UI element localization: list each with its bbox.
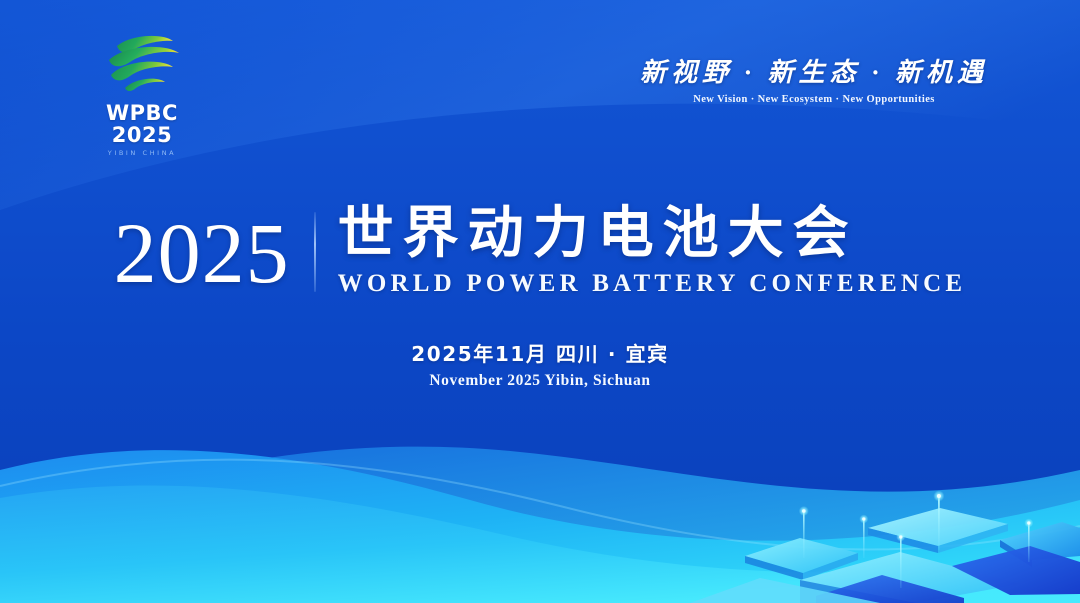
conference-tagline: 新视野 · 新生态 · 新机遇 New Vision · New Ecosyst…: [640, 52, 988, 105]
wpbc-globe-logo-icon: [87, 28, 197, 100]
title-chinese: 世界动力电池大会: [338, 204, 967, 264]
tagline-chinese: 新视野 · 新生态 · 新机遇: [640, 52, 988, 89]
main-title: 2025 世界动力电池大会 WORLD POWER BATTERY CONFER…: [0, 204, 1080, 298]
conference-poster: WPBC 2025 YIBIN CHINA 新视野 · 新生态 · 新机遇 Ne…: [0, 0, 1080, 603]
date-venue-english: November 2025 Yibin, Sichuan: [0, 372, 1080, 390]
date-venue-chinese: 2025年11月 四川 · 宜宾: [0, 338, 1080, 367]
logo-wordmark: WPBC 2025: [76, 102, 208, 146]
date-venue-block: 2025年11月 四川 · 宜宾 November 2025 Yibin, Si…: [0, 338, 1080, 390]
conference-logo[interactable]: WPBC 2025 YIBIN CHINA: [76, 28, 208, 157]
title-english: WORLD POWER BATTERY CONFERENCE: [338, 270, 967, 298]
title-text-stack: 世界动力电池大会 WORLD POWER BATTERY CONFERENCE: [338, 204, 967, 298]
title-year: 2025: [114, 204, 290, 296]
tagline-english: New Vision · New Ecosystem · New Opportu…: [640, 94, 988, 105]
logo-location-line: YIBIN CHINA: [76, 149, 208, 157]
title-divider: [314, 212, 316, 292]
